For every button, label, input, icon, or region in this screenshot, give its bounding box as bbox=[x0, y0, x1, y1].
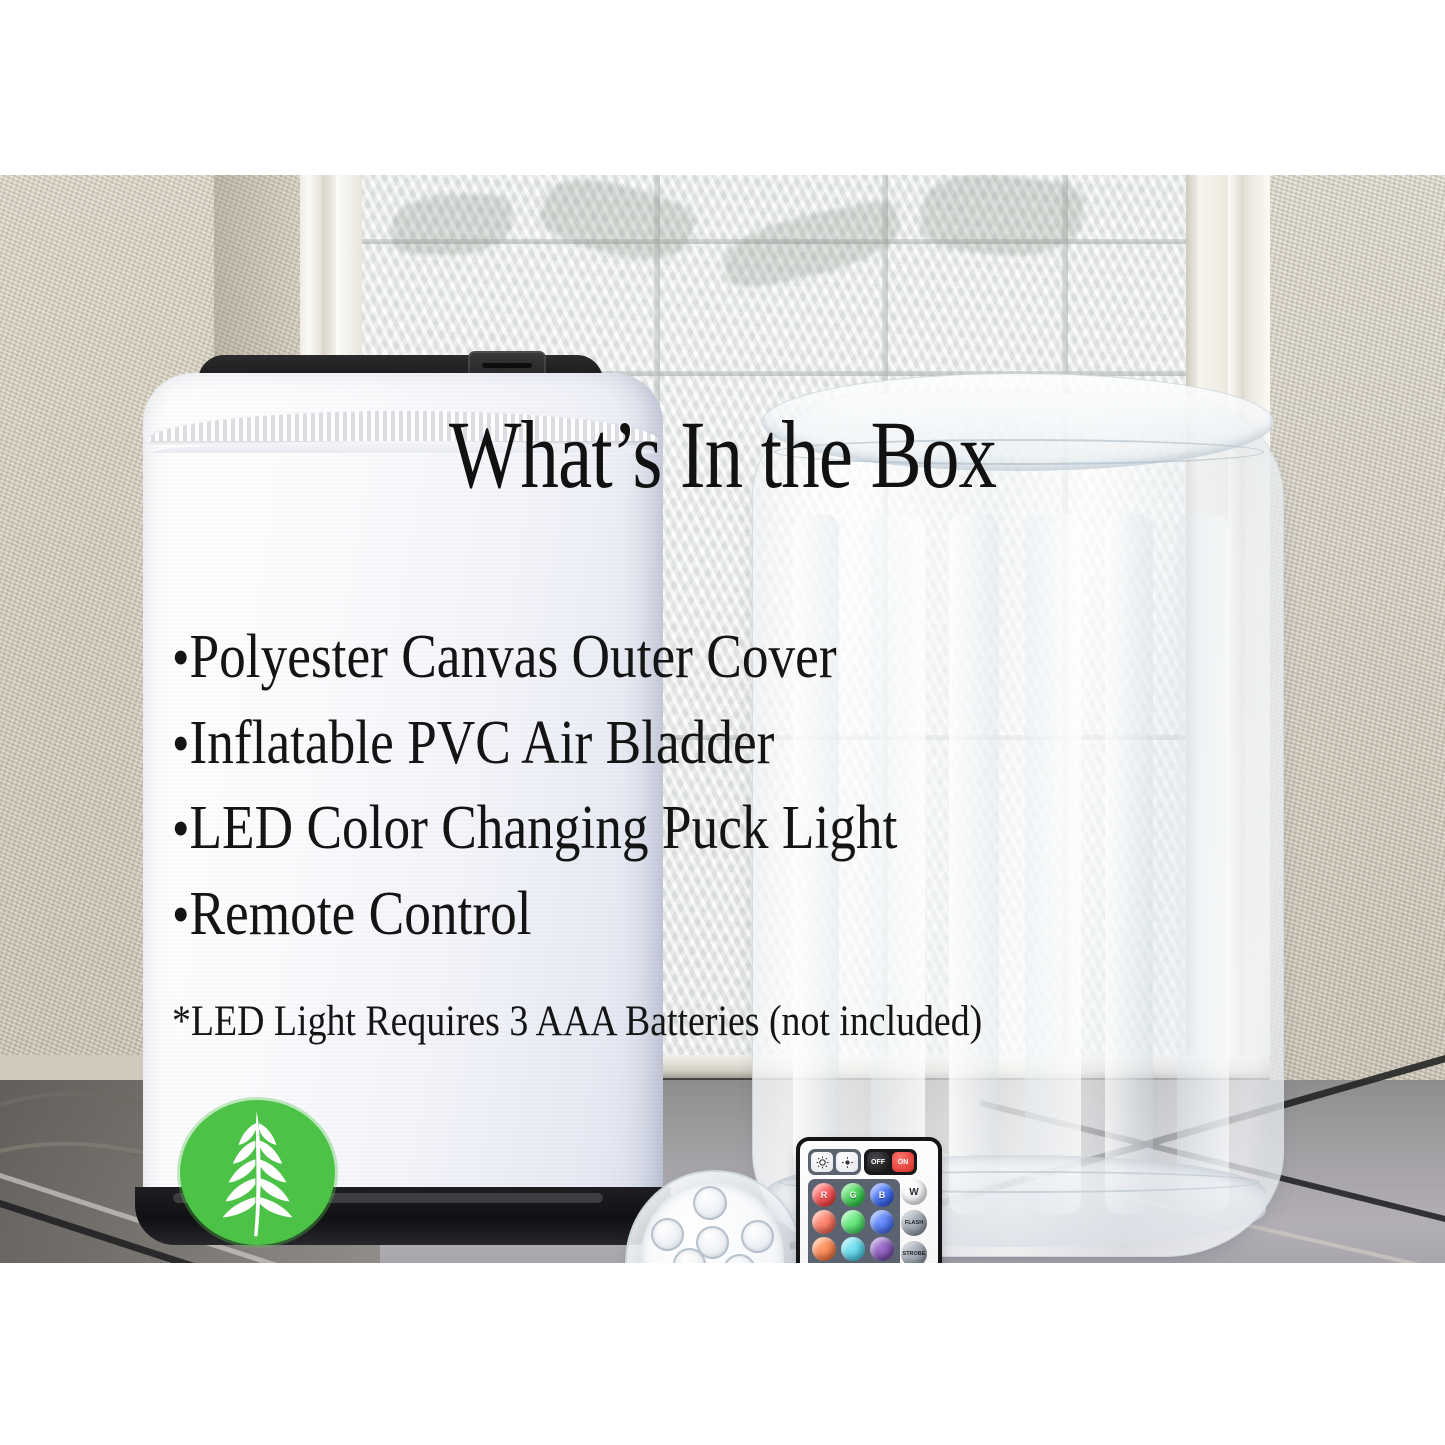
color-button-orange[interactable] bbox=[812, 1237, 836, 1261]
color-button-purple[interactable] bbox=[870, 1237, 894, 1261]
power-on-button[interactable]: ON bbox=[892, 1152, 914, 1172]
fern-leaf-icon bbox=[180, 1100, 335, 1245]
page-title: What’s In the Box bbox=[145, 407, 1301, 503]
stucco-wall-right bbox=[1270, 175, 1445, 1080]
bullet-marker: • bbox=[172, 882, 189, 947]
led-lens bbox=[741, 1220, 774, 1253]
led-lens bbox=[723, 1254, 756, 1263]
product-photo: OFF ON R G B bbox=[0, 175, 1445, 1263]
remote-brightness-group bbox=[808, 1149, 861, 1175]
remote-power-group: OFF ON bbox=[864, 1149, 917, 1175]
remote-color-grid: R G B bbox=[808, 1179, 900, 1263]
battery-disclaimer: *LED Light Requires 3 AAA Batteries (not… bbox=[172, 997, 1140, 1046]
remote-mode-buttons: W FLASH STROBE FADE SMOOTH bbox=[896, 1179, 932, 1263]
foliage-shadow bbox=[718, 197, 907, 293]
color-button-cyan[interactable] bbox=[841, 1237, 865, 1261]
color-button-indigo[interactable] bbox=[870, 1210, 894, 1234]
mode-button-flash[interactable]: FLASH bbox=[901, 1210, 927, 1236]
brightness-up-icon[interactable] bbox=[811, 1152, 833, 1172]
brand-logo bbox=[180, 1100, 335, 1245]
color-button-green[interactable]: G bbox=[841, 1183, 865, 1207]
power-off-button[interactable]: OFF bbox=[867, 1152, 889, 1172]
color-button-white[interactable]: W bbox=[901, 1179, 927, 1205]
color-button-blue[interactable]: B bbox=[870, 1183, 894, 1207]
whats-in-the-box-list: •Polyester Canvas Outer Cover •Inflatabl… bbox=[172, 615, 1242, 957]
brightness-down-icon[interactable] bbox=[836, 1152, 858, 1172]
bullet-marker: • bbox=[172, 796, 189, 861]
color-button-lime[interactable] bbox=[841, 1210, 865, 1234]
led-puck-light bbox=[625, 1170, 800, 1263]
list-item-label: Polyester Canvas Outer Cover bbox=[189, 623, 836, 691]
mode-button-strobe[interactable]: STROBE bbox=[901, 1241, 927, 1263]
bullet-marker: • bbox=[172, 711, 189, 776]
foliage-shadow bbox=[392, 195, 512, 255]
color-button-salmon[interactable] bbox=[812, 1210, 836, 1234]
foliage-shadow bbox=[535, 175, 699, 276]
list-item: •Polyester Canvas Outer Cover bbox=[172, 615, 1092, 701]
remote-top-row: OFF ON bbox=[808, 1149, 922, 1175]
led-lens bbox=[693, 1186, 727, 1220]
bullet-marker: • bbox=[172, 625, 189, 690]
list-item: •Remote Control bbox=[172, 872, 1092, 958]
led-remote-control: OFF ON R G B bbox=[796, 1137, 942, 1263]
list-item-label: Inflatable PVC Air Bladder bbox=[189, 709, 774, 777]
list-item: •Inflatable PVC Air Bladder bbox=[172, 701, 1092, 787]
list-item-label: Remote Control bbox=[189, 880, 531, 948]
list-item-label: LED Color Changing Puck Light bbox=[189, 794, 897, 862]
list-item: •LED Color Changing Puck Light bbox=[172, 786, 1092, 872]
product-infographic: OFF ON R G B bbox=[0, 0, 1445, 1445]
led-lens bbox=[651, 1218, 684, 1251]
color-button-red[interactable]: R bbox=[812, 1183, 836, 1207]
